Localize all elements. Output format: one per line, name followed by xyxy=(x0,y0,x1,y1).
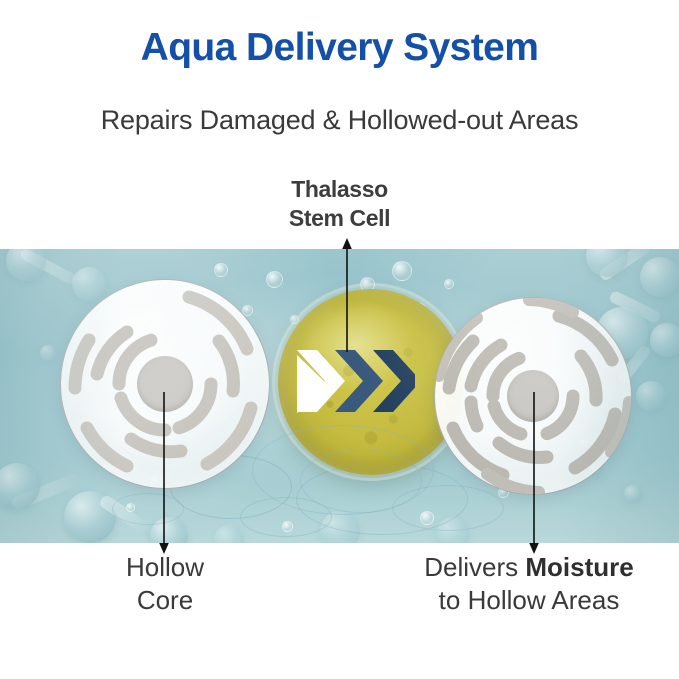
page-subtitle: Repairs Damaged & Hollowed-out Areas xyxy=(0,104,679,136)
chevron-group xyxy=(295,348,415,414)
hollow-core-capsule xyxy=(60,279,270,489)
hollow-core-caption-line2: Core xyxy=(40,584,290,617)
moisture-filled-capsule xyxy=(434,297,632,495)
hollow-core-caption-line1: Hollow xyxy=(40,551,290,584)
hollow-core-hub xyxy=(137,356,193,412)
moisture-caption: Delivers Moisture to Hollow Areas xyxy=(388,551,670,618)
product-photo-band xyxy=(0,249,679,543)
moisture-caption-plain: Delivers xyxy=(424,552,525,582)
page-title: Aqua Delivery System xyxy=(0,26,679,71)
thalasso-stem-cell-label-line1: Thalasso xyxy=(0,175,679,204)
moisture-caption-line2: to Hollow Areas xyxy=(388,584,670,617)
moisture-caption-line1: Delivers Moisture xyxy=(388,551,670,584)
thalasso-stem-cell-label-line2: Stem Cell xyxy=(0,204,679,233)
thalasso-stem-cell-label: Thalasso Stem Cell xyxy=(0,175,679,232)
header-panel: Aqua Delivery System Repairs Damaged & H… xyxy=(0,0,679,249)
moisture-capsule-hub xyxy=(507,370,559,422)
moisture-caption-bold: Moisture xyxy=(525,552,633,582)
hollow-core-caption: Hollow Core xyxy=(40,551,290,618)
footer-panel: Hollow Core Delivers Moisture to Hollow … xyxy=(0,543,679,679)
